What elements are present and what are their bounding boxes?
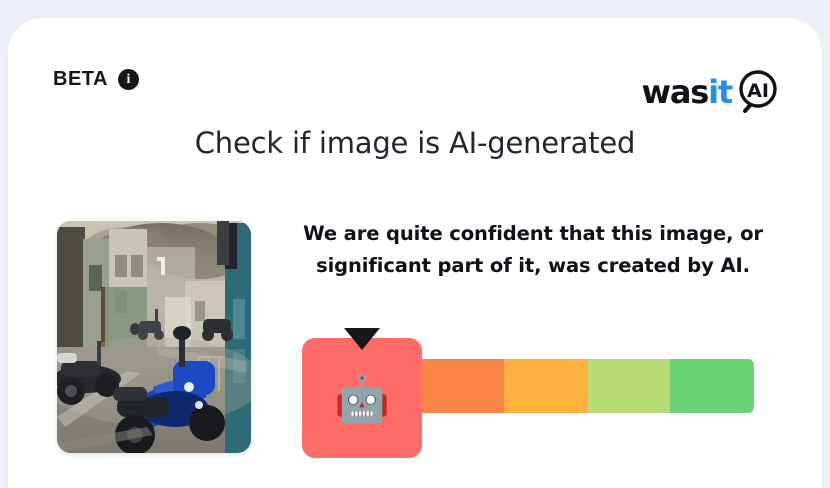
magnifying-glass-icon: AI <box>730 67 780 117</box>
beta-badge: BETA i <box>53 68 139 91</box>
card-header: BETA i was it AI <box>8 18 822 128</box>
confidence-gauge: 🤖 <box>294 328 754 458</box>
result-body: We are quite confident that this image, … <box>8 188 822 488</box>
gauge-marker-icon <box>344 328 380 350</box>
gauge-segment-likely-human <box>588 359 670 413</box>
logo-text-it: it <box>708 76 732 108</box>
result-card: BETA i was it AI Check if image is AI-ge… <box>8 18 822 488</box>
thumbnail-graphic <box>57 221 251 453</box>
robot-face-icon: 🤖 <box>334 376 390 421</box>
gauge-segment-very-likely-ai: 🤖 <box>302 338 422 458</box>
gauge-segment-uncertain <box>504 359 588 413</box>
info-icon[interactable]: i <box>118 69 139 90</box>
gauge-track: 🤖 <box>294 328 754 458</box>
verdict-message: We are quite confident that this image, … <box>303 218 763 281</box>
logo-text-was: was <box>642 76 709 108</box>
beta-label: BETA <box>53 68 108 91</box>
page-title: Check if image is AI-generated <box>8 126 822 160</box>
app-root: BETA i was it AI Check if image is AI-ge… <box>0 0 830 466</box>
brand-logo[interactable]: was it AI <box>642 70 780 114</box>
gauge-segment-very-likely-human <box>670 359 754 413</box>
gauge-segment-likely-ai <box>422 359 504 413</box>
logo-ai-badge-text: AI <box>747 80 769 102</box>
analysed-image-thumbnail[interactable] <box>57 221 251 453</box>
